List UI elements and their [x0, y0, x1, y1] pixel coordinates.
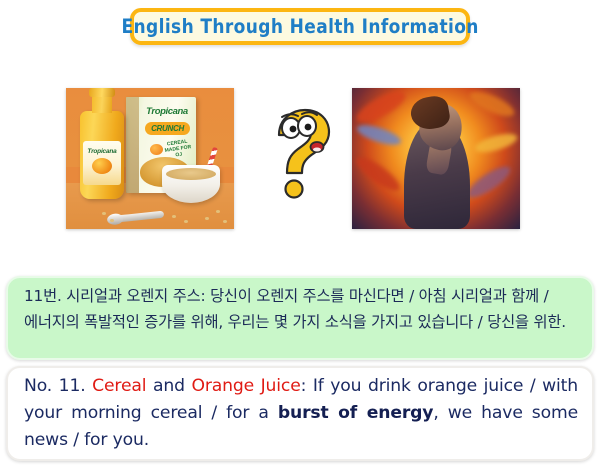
page-title: English Through Health Information — [121, 15, 478, 38]
english-segment-red: Orange Juice — [191, 376, 300, 396]
cereal-flake — [110, 219, 114, 222]
media-strip: Tropicana CRUNCH CEREAL MADE FOR OJ Trop… — [0, 85, 600, 235]
cereal-box-brand-label: Tropicana — [140, 106, 194, 117]
english-sentence-box: No. 11. Cereal and Orange Juice: If you … — [6, 366, 594, 461]
cereal-flake — [223, 220, 227, 223]
question-mark-character — [265, 105, 335, 201]
cereal-box-mascot-icon — [150, 144, 163, 155]
bowl-contents — [166, 168, 216, 180]
orange-juice-bottle: Tropicana — [80, 111, 124, 199]
bottle-cap — [89, 88, 115, 97]
english-segment-bold: burst of energy — [278, 403, 434, 423]
photo-cereal-juice: Tropicana CRUNCH CEREAL MADE FOR OJ Trop… — [66, 88, 234, 229]
bottle-brand-label: Tropicana — [83, 148, 121, 155]
english-sentence-text: No. 11. Cereal and Orange Juice: If you … — [24, 373, 578, 454]
cereal-flake — [172, 215, 176, 218]
english-segment-plain: No. 11. — [24, 376, 92, 396]
bottle-label: Tropicana — [83, 141, 121, 185]
cereal-flake — [216, 210, 220, 213]
korean-translation-text: 11번. 시리얼과 오렌지 주스: 당신이 오렌지 주스를 마신다면 / 아침 … — [24, 284, 578, 335]
cereal-flake — [184, 220, 188, 223]
orange-fruit-icon — [92, 158, 112, 174]
english-segment-plain: and — [146, 376, 191, 396]
cereal-box-sub-label: CRUNCH — [145, 122, 190, 135]
photo-burst-energy — [352, 88, 520, 229]
english-segment-red: Cereal — [92, 376, 146, 396]
cereal-flake — [205, 217, 209, 220]
korean-translation-box: 11번. 시리얼과 오렌지 주스: 당신이 오렌지 주스를 마신다면 / 아침 … — [6, 276, 594, 360]
question-mark-icon — [265, 105, 335, 201]
cereal-flake — [102, 212, 106, 215]
title-banner: English Through Health Information — [130, 8, 470, 45]
cereal-bowl — [162, 165, 220, 203]
cereal-box-side-panel — [126, 97, 139, 193]
